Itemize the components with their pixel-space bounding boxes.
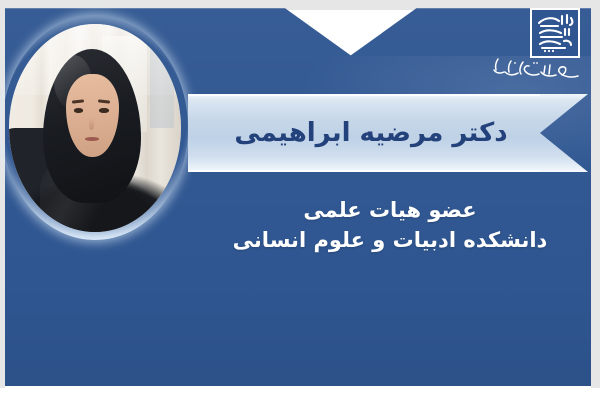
university-logo bbox=[490, 6, 586, 84]
portrait-eye-left bbox=[74, 108, 83, 112]
role-line-1: عضو هیات علمی bbox=[200, 196, 580, 226]
portrait-window-secondary bbox=[150, 45, 174, 128]
public-relations-calligraphy-icon bbox=[492, 54, 584, 82]
portrait bbox=[2, 16, 188, 240]
portrait-eye-right bbox=[99, 108, 108, 112]
shahid-beheshti-university-emblem-icon bbox=[530, 8, 580, 58]
role-line-2: دانشکده ادبیات و علوم انسانی bbox=[200, 226, 580, 256]
role-block: عضو هیات علمی دانشکده ادبیات و علوم انسا… bbox=[200, 196, 580, 256]
faculty-profile-card: دکتر مرضیه ابراهیمی عضو هیات علمی دانشکد… bbox=[0, 0, 600, 400]
person-name: دکتر مرضیه ابراهیمی bbox=[188, 94, 588, 172]
name-ribbon: دکتر مرضیه ابراهیمی bbox=[188, 94, 588, 172]
right-frame-strip bbox=[591, 0, 600, 388]
portrait-photo bbox=[9, 24, 181, 232]
